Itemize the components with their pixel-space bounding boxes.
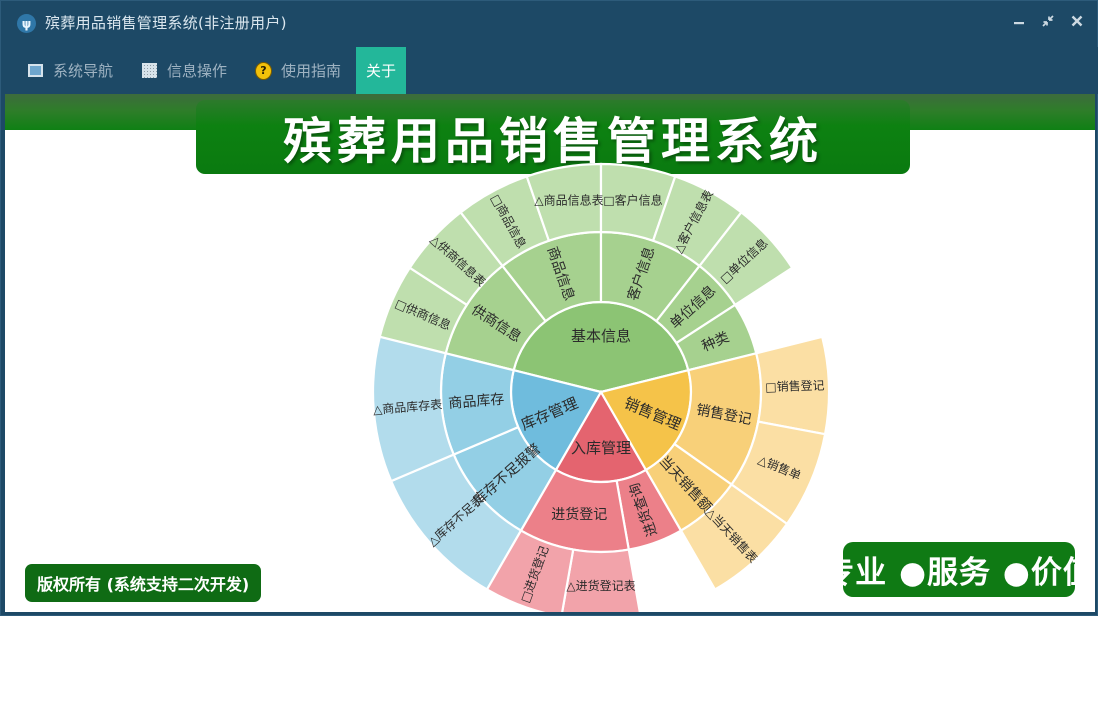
help-question-icon: ?: [255, 62, 272, 79]
window-title: 殡葬用品销售管理系统(非注册用户): [45, 12, 287, 33]
slogan-text: 专业 ●服务 ●价值: [823, 547, 1095, 592]
menu-item-label: 信息操作: [167, 60, 227, 81]
application-window: ψ 殡葬用品销售管理系统(非注册用户): [0, 0, 1098, 616]
title-bar[interactable]: ψ 殡葬用品销售管理系统(非注册用户): [1, 1, 1097, 47]
menu-item-label: 关于: [366, 60, 396, 81]
menu-item-user-guide[interactable]: ? 使用指南: [241, 47, 355, 94]
sunburst-segment-label: □销售登记: [765, 377, 825, 394]
sunburst-segment-label: △商品信息表: [534, 193, 603, 208]
screenshot-root: ψ 殡葬用品销售管理系统(非注册用户): [0, 0, 1098, 728]
window-icon: [27, 62, 44, 79]
sunburst-segment-label: △进货登记表: [566, 578, 635, 593]
content-area: 殡葬用品销售管理系统 基本信息供商信息□供商信息△供商信息表商品信息□商品信息△…: [5, 94, 1095, 612]
menu-bar: 系统导航 信息操作 ? 使用指南 关于: [1, 47, 1098, 94]
grid-icon: [141, 62, 158, 79]
sunburst-segment-label: 入库管理: [571, 439, 631, 457]
restore-button[interactable]: [1040, 13, 1056, 29]
app-logo-icon: ψ: [17, 14, 36, 33]
sunburst-segment-label: □客户信息: [603, 193, 662, 208]
minimize-button[interactable]: [1011, 13, 1027, 29]
close-button[interactable]: [1069, 13, 1085, 29]
menu-item-system-nav[interactable]: 系统导航: [13, 47, 127, 94]
sunburst-segment-label: 进货登记: [551, 506, 607, 523]
copyright-badge: 版权所有 (系统支持二次开发): [25, 564, 261, 602]
menu-item-about[interactable]: 关于: [356, 47, 406, 94]
menu-item-label: 系统导航: [53, 60, 113, 81]
sunburst-chart[interactable]: 基本信息供商信息□供商信息△供商信息表商品信息□商品信息△商品信息表客户信息□客…: [5, 94, 1095, 612]
sunburst-segment-label: 基本信息: [571, 327, 631, 345]
slogan-badge: 专业 ●服务 ●价值: [843, 542, 1075, 597]
menu-item-label: 使用指南: [281, 60, 341, 81]
sunburst-navigation[interactable]: 基本信息供商信息□供商信息△供商信息表商品信息□商品信息△商品信息表客户信息□客…: [5, 94, 1095, 612]
menu-item-info-ops[interactable]: 信息操作: [127, 47, 241, 94]
window-controls: [1011, 13, 1085, 29]
